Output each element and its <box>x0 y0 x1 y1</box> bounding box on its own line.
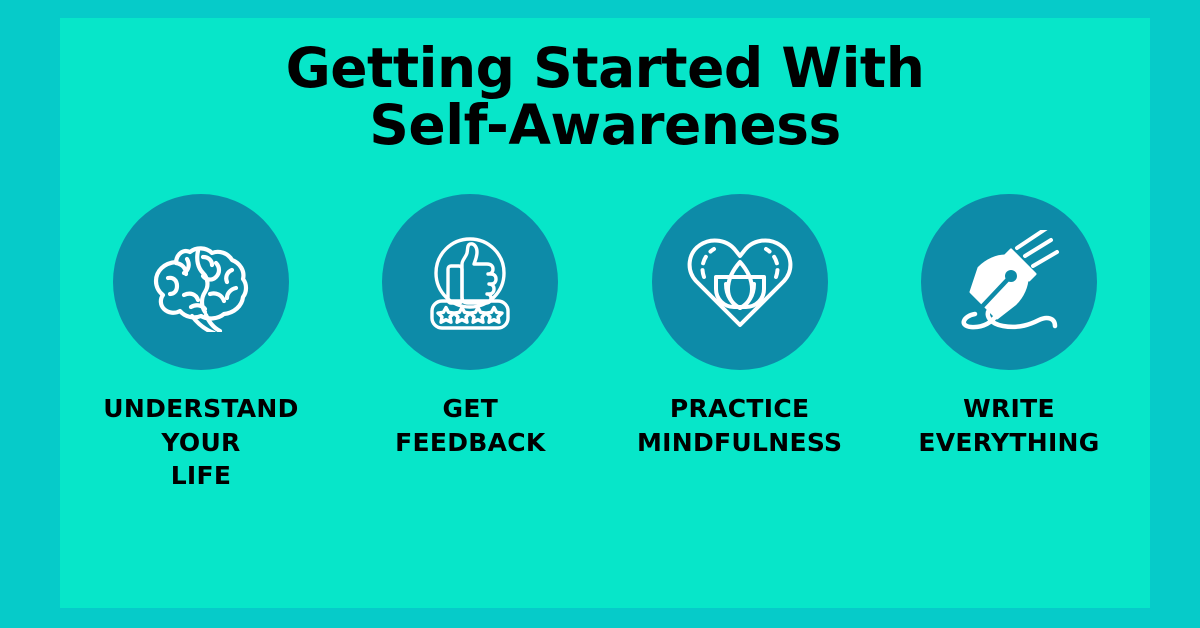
steps-row: UNDERSTAND YOUR LIFE <box>60 194 1150 493</box>
infographic-poster: Getting Started With Self-Awareness <box>0 0 1200 628</box>
step-label: WRITE EVERYTHING <box>918 392 1099 459</box>
step-icon-badge <box>113 194 289 370</box>
step-icon-badge <box>652 194 828 370</box>
step-label: PRACTICE MINDFULNESS <box>637 392 842 459</box>
step-icon-badge <box>382 194 558 370</box>
step-practice-mindfulness: PRACTICE MINDFULNESS <box>615 194 865 493</box>
brain-icon <box>146 232 256 332</box>
thumbs-up-rating-icon <box>418 230 522 334</box>
inner-panel: Getting Started With Self-Awareness <box>60 18 1150 608</box>
step-write-everything: WRITE EVERYTHING <box>884 194 1134 493</box>
step-get-feedback: GET FEEDBACK <box>345 194 595 493</box>
step-icon-badge <box>921 194 1097 370</box>
heart-lotus-icon <box>684 232 796 332</box>
page-title: Getting Started With Self-Awareness <box>60 40 1150 154</box>
step-label: GET FEEDBACK <box>395 392 546 459</box>
step-understand-your-life: UNDERSTAND YOUR LIFE <box>76 194 326 493</box>
step-label: UNDERSTAND YOUR LIFE <box>103 392 298 493</box>
pen-nib-writing-icon <box>953 230 1065 334</box>
